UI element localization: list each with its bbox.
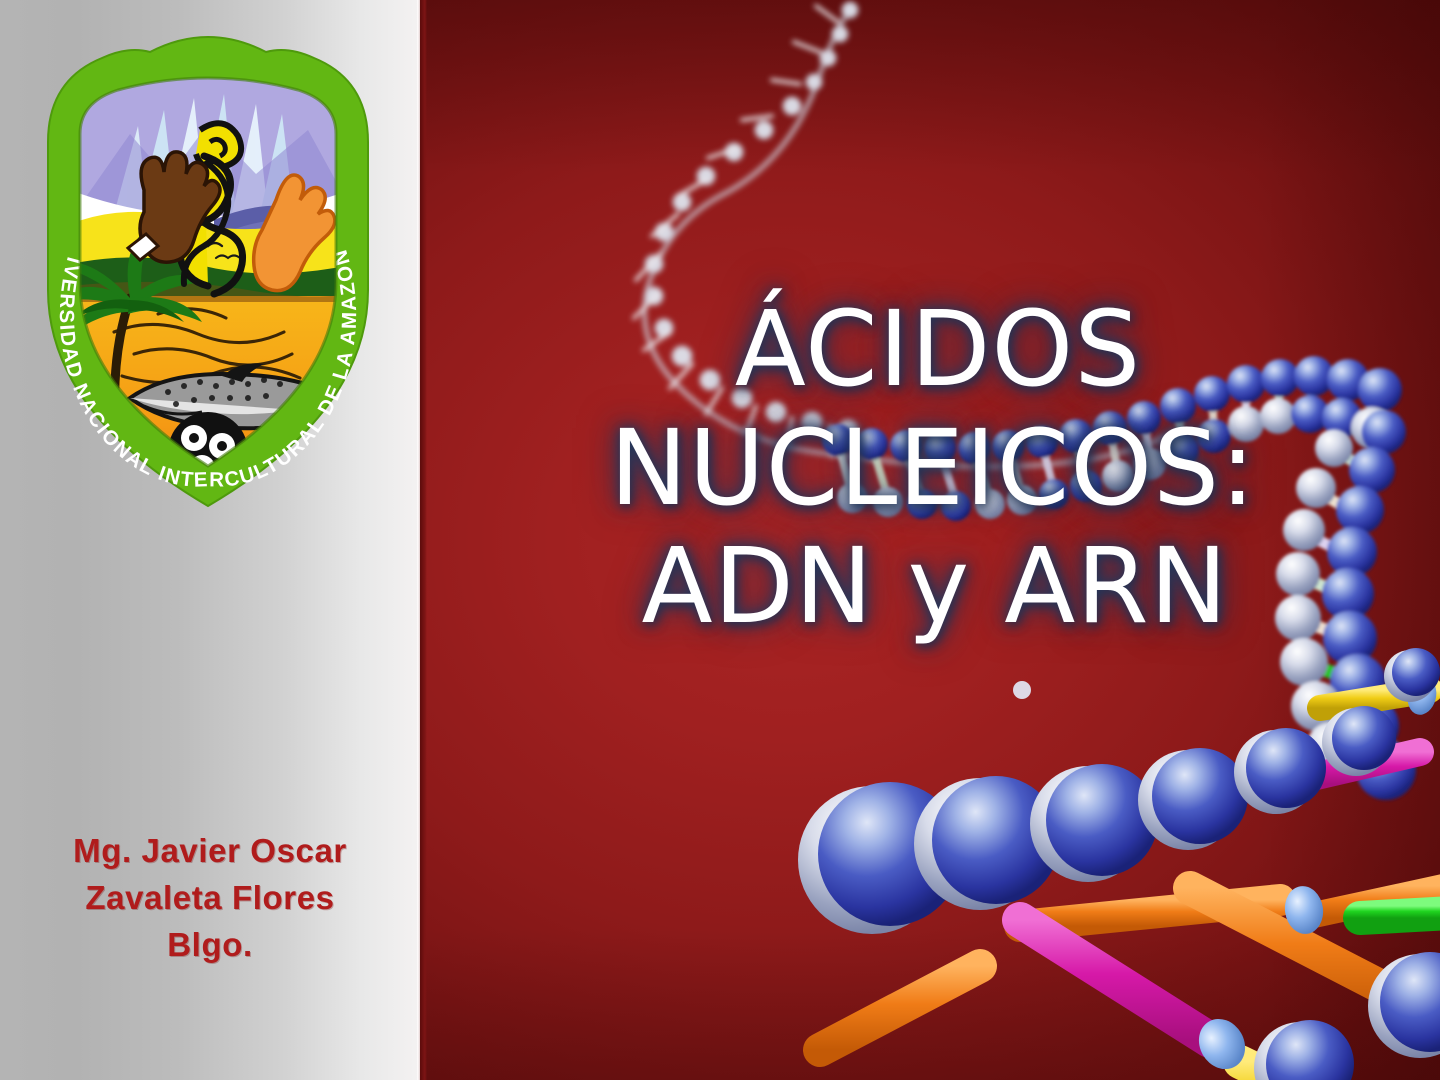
base-pair-magenta <box>1020 920 1210 1040</box>
title-line-2: NUCLEICOS: <box>420 409 1440 528</box>
base-pair-orange-3 <box>820 966 980 1050</box>
author-line-1: Mg. Javier Oscar <box>8 828 412 875</box>
presentation-slide: UNIA UNIVERSIDAD NACIONAL INTERCULTURAL … <box>0 0 1440 1080</box>
author-credit: Mg. Javier Oscar Zavaleta Flores Blgo. <box>8 828 412 969</box>
university-logo: UNIA UNIVERSIDAD NACIONAL INTERCULTURAL … <box>18 14 398 514</box>
red-edge-strip <box>420 0 427 1080</box>
left-panel: UNIA UNIVERSIDAD NACIONAL INTERCULTURAL … <box>0 0 420 1080</box>
author-line-2: Zavaleta Flores <box>8 875 412 922</box>
base-pair-green <box>1360 906 1440 918</box>
dna-bubble <box>1013 681 1031 699</box>
author-line-3: Blgo. <box>8 922 412 969</box>
title-line-3: ADN y ARN <box>420 527 1440 646</box>
unia-shield-icon: UNIA UNIVERSIDAD NACIONAL INTERCULTURAL … <box>18 14 398 514</box>
slide-title: ÁCIDOS NUCLEICOS: ADN y ARN <box>420 290 1440 646</box>
title-line-1: ÁCIDOS <box>420 290 1440 409</box>
